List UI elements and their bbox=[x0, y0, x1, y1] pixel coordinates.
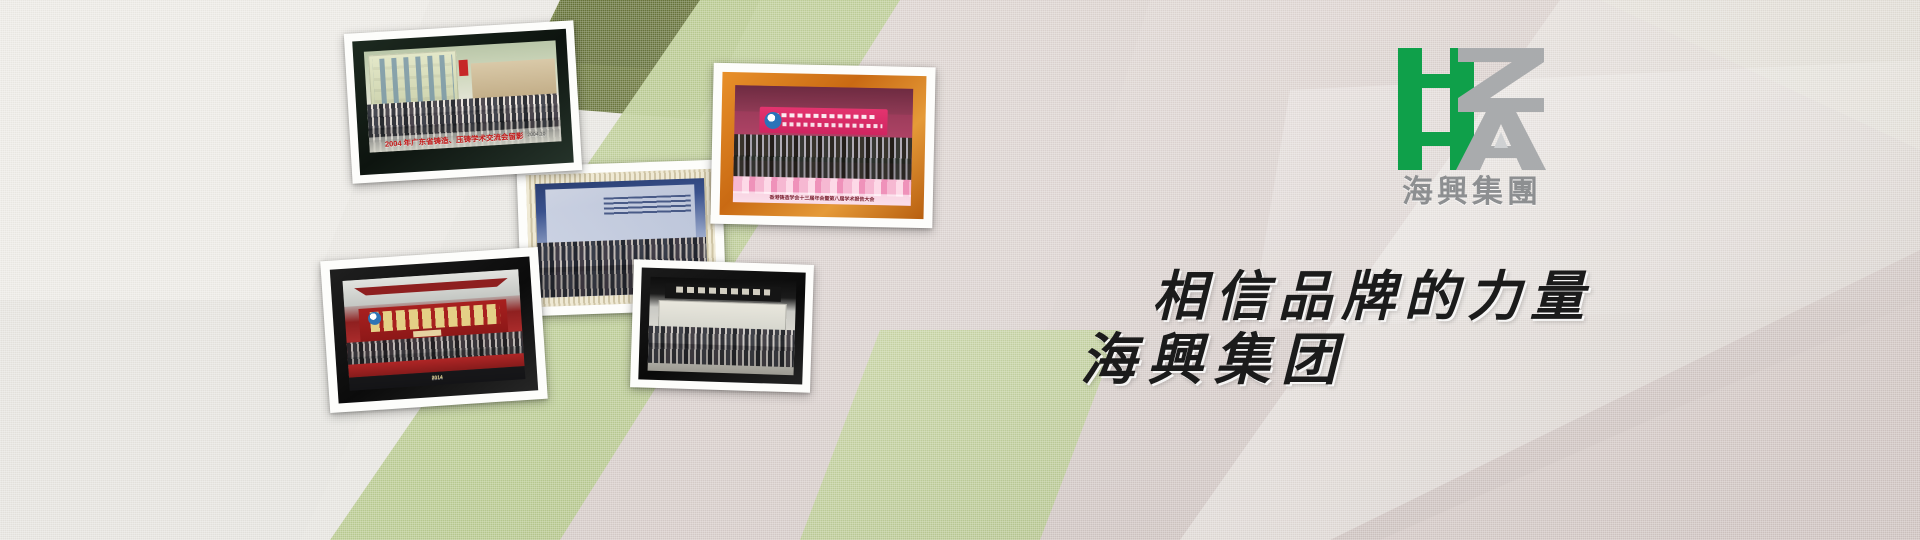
photo-frame-hk-casting-association[interactable]: 香港铸造学会十三届年会暨第八届学术报告大会 bbox=[710, 63, 935, 229]
logo-letter-a bbox=[1456, 104, 1546, 170]
photo-storefront-inner bbox=[638, 267, 805, 384]
red-flag bbox=[459, 60, 469, 77]
caption-text: 香港铸造学会十三届年会暨第八届学术报告大会 bbox=[769, 194, 874, 203]
photo-frame-2004-guangdong[interactable]: 2004 年广东省铸造、压铸学术交流会留影 2004.10 bbox=[344, 20, 582, 183]
caption-text: 2014 bbox=[431, 375, 442, 382]
logo-letter-z bbox=[1456, 48, 1546, 112]
photo-frame-annual-meeting-2014[interactable]: 2014 bbox=[320, 247, 548, 413]
photo-frame-storefront-group[interactable] bbox=[630, 259, 814, 393]
logo-company-name: 海興集團 bbox=[1402, 166, 1542, 211]
photo-hk-casting-image: 香港铸造学会十三届年会暨第八届学术报告大会 bbox=[733, 85, 913, 206]
photo-2004-guangdong-image: 2004 年广东省铸造、压铸学术交流会留影 2004.10 bbox=[364, 40, 562, 152]
logo-mark bbox=[1396, 48, 1596, 166]
photo-storefront-image bbox=[648, 277, 797, 376]
photo-2004-guangdong-inner: 2004 年广东省铸造、压铸学术交流会留影 2004.10 bbox=[352, 29, 574, 175]
award-title-text bbox=[603, 195, 691, 216]
caption-date: 2004.10 bbox=[527, 132, 545, 139]
photo-2014-image: 2014 bbox=[343, 269, 526, 390]
photo-2014-inner: 2014 bbox=[330, 257, 538, 404]
slogan-line-2: 海興集团 bbox=[1080, 315, 1348, 396]
photo-hk-casting-inner: 香港铸造学会十三届年会暨第八届学术报告大会 bbox=[720, 72, 927, 219]
background-polygons bbox=[0, 0, 1920, 540]
background-shapes bbox=[0, 0, 1920, 540]
company-logo[interactable]: 海興集團 bbox=[1396, 48, 1596, 203]
building-windows bbox=[372, 55, 455, 104]
photo-caption bbox=[729, 360, 788, 373]
hero-banner: 香港铸造学会十三届年会暨第八届学术报告大会 2004 年广东省铸造、压铸学术交流… bbox=[0, 0, 1920, 540]
